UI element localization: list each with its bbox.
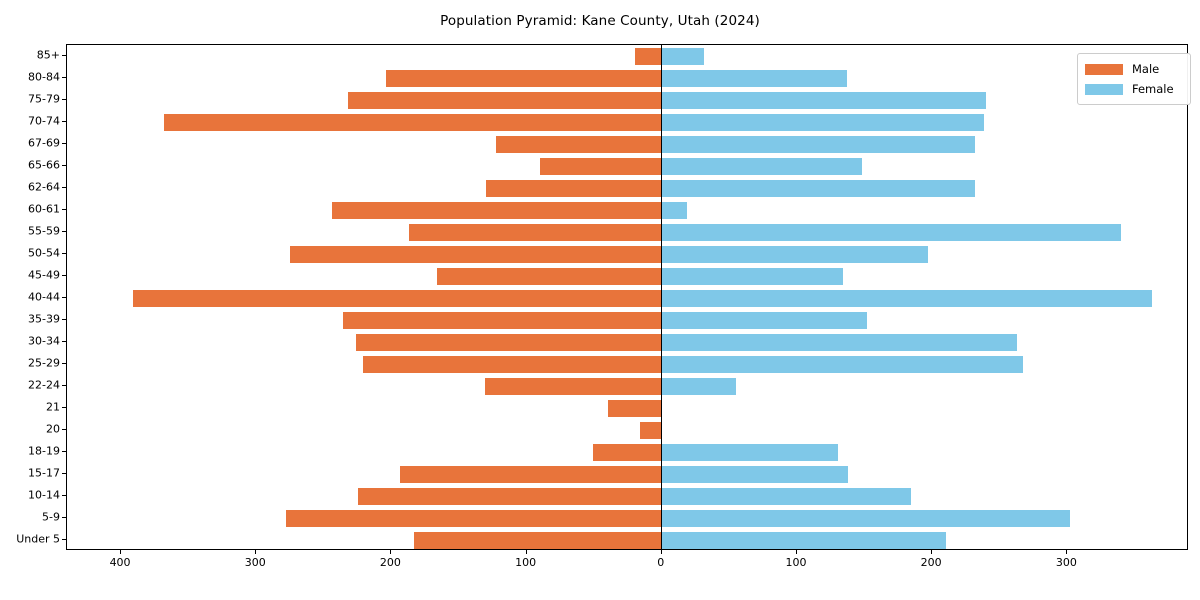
xtick-mark — [931, 550, 932, 554]
bar-male-30-34 — [356, 334, 662, 351]
legend-label-male: Male — [1132, 62, 1159, 76]
bar-male-62-64 — [486, 180, 662, 197]
xtick-label-7: 300 — [1056, 556, 1077, 569]
bar-male-45-49 — [437, 268, 661, 285]
bar-female-15-17 — [662, 466, 849, 483]
bar-male-40-44 — [133, 290, 662, 307]
ytick-label-20: 20 — [46, 423, 60, 436]
bar-male-22-24 — [485, 378, 662, 395]
xtick-mark — [526, 550, 527, 554]
ytick-label-45-49: 45-49 — [28, 269, 60, 282]
bar-male-21 — [608, 400, 662, 417]
xtick-mark — [1066, 550, 1067, 554]
ytick-label-15-17: 15-17 — [28, 467, 60, 480]
bar-male-20 — [640, 422, 662, 439]
zero-axis-line — [661, 45, 662, 549]
bar-female-75-79 — [662, 92, 986, 109]
ytick-label-55-59: 55-59 — [28, 225, 60, 238]
bar-male-25-29 — [363, 356, 662, 373]
legend: Male Female — [1077, 53, 1191, 105]
ytick-label-80-84: 80-84 — [28, 71, 60, 84]
bar-male-18-19 — [593, 444, 662, 461]
xtick-mark — [796, 550, 797, 554]
ytick-label-62-64: 62-64 — [28, 181, 60, 194]
xtick-label-3: 100 — [515, 556, 536, 569]
bar-male-67-69 — [496, 136, 662, 153]
bar-male-15-17 — [400, 466, 662, 483]
bar-female-50-54 — [662, 246, 928, 263]
legend-swatch-male — [1085, 64, 1123, 75]
bar-female-45-49 — [662, 268, 843, 285]
bar-male-55-59 — [409, 224, 662, 241]
ytick-label-18-19: 18-19 — [28, 445, 60, 458]
bar-male-60-61 — [332, 202, 662, 219]
ytick-label-65-66: 65-66 — [28, 159, 60, 172]
bar-male-10-14 — [358, 488, 662, 505]
ytick-label-50-54: 50-54 — [28, 247, 60, 260]
plot-area — [66, 44, 1188, 550]
bar-female-22-24 — [662, 378, 736, 395]
bar-female-10-14 — [662, 488, 911, 505]
bar-female-55-59 — [662, 224, 1122, 241]
bar-female-60-61 — [662, 202, 688, 219]
xtick-mark — [661, 550, 662, 554]
ytick-label-25-29: 25-29 — [28, 357, 60, 370]
bar-male-65-66 — [540, 158, 662, 175]
bar-female-40-44 — [662, 290, 1153, 307]
ytick-label-5-9: 5-9 — [42, 511, 60, 524]
ytick-label-40-44: 40-44 — [28, 291, 60, 304]
ytick-label-22-24: 22-24 — [28, 379, 60, 392]
legend-label-female: Female — [1132, 82, 1174, 96]
xtick-label-4: 0 — [657, 556, 664, 569]
bar-female-85+ — [662, 48, 704, 65]
ytick-label-21: 21 — [46, 401, 60, 414]
bar-female-67-69 — [662, 136, 976, 153]
ytick-label-67-69: 67-69 — [28, 137, 60, 150]
figure-canvas: Population Pyramid: Kane County, Utah (2… — [0, 0, 1200, 600]
bar-male-5-9 — [286, 510, 662, 527]
bar-male-70-74 — [164, 114, 661, 131]
bar-male-under-5 — [414, 532, 661, 549]
legend-item-male: Male — [1085, 59, 1182, 79]
bar-male-80-84 — [386, 70, 662, 87]
xtick-mark — [255, 550, 256, 554]
xtick-label-0: 400 — [110, 556, 131, 569]
bar-male-85+ — [635, 48, 662, 65]
bar-male-50-54 — [290, 246, 662, 263]
bar-female-25-29 — [662, 356, 1023, 373]
xtick-label-5: 100 — [785, 556, 806, 569]
legend-swatch-female — [1085, 84, 1123, 95]
bar-female-30-34 — [662, 334, 1018, 351]
ytick-label-60-61: 60-61 — [28, 203, 60, 216]
bar-female-under-5 — [662, 532, 946, 549]
bar-female-35-39 — [662, 312, 867, 329]
xtick-label-2: 200 — [380, 556, 401, 569]
xtick-mark — [390, 550, 391, 554]
xtick-label-1: 300 — [245, 556, 266, 569]
bar-male-75-79 — [348, 92, 662, 109]
ytick-label-85+: 85+ — [37, 49, 60, 62]
bar-female-80-84 — [662, 70, 847, 87]
bar-male-35-39 — [343, 312, 662, 329]
ytick-label-35-39: 35-39 — [28, 313, 60, 326]
ytick-label-75-79: 75-79 — [28, 93, 60, 106]
legend-item-female: Female — [1085, 79, 1182, 99]
xtick-mark — [120, 550, 121, 554]
chart-title: Population Pyramid: Kane County, Utah (2… — [0, 13, 1200, 29]
bar-female-18-19 — [662, 444, 838, 461]
ytick-label-under-5: Under 5 — [16, 533, 60, 546]
bar-female-70-74 — [662, 114, 984, 131]
ytick-label-30-34: 30-34 — [28, 335, 60, 348]
bar-female-5-9 — [662, 510, 1070, 527]
ytick-label-10-14: 10-14 — [28, 489, 60, 502]
ytick-label-70-74: 70-74 — [28, 115, 60, 128]
bar-female-62-64 — [662, 180, 976, 197]
bar-female-65-66 — [662, 158, 862, 175]
xtick-label-6: 200 — [921, 556, 942, 569]
